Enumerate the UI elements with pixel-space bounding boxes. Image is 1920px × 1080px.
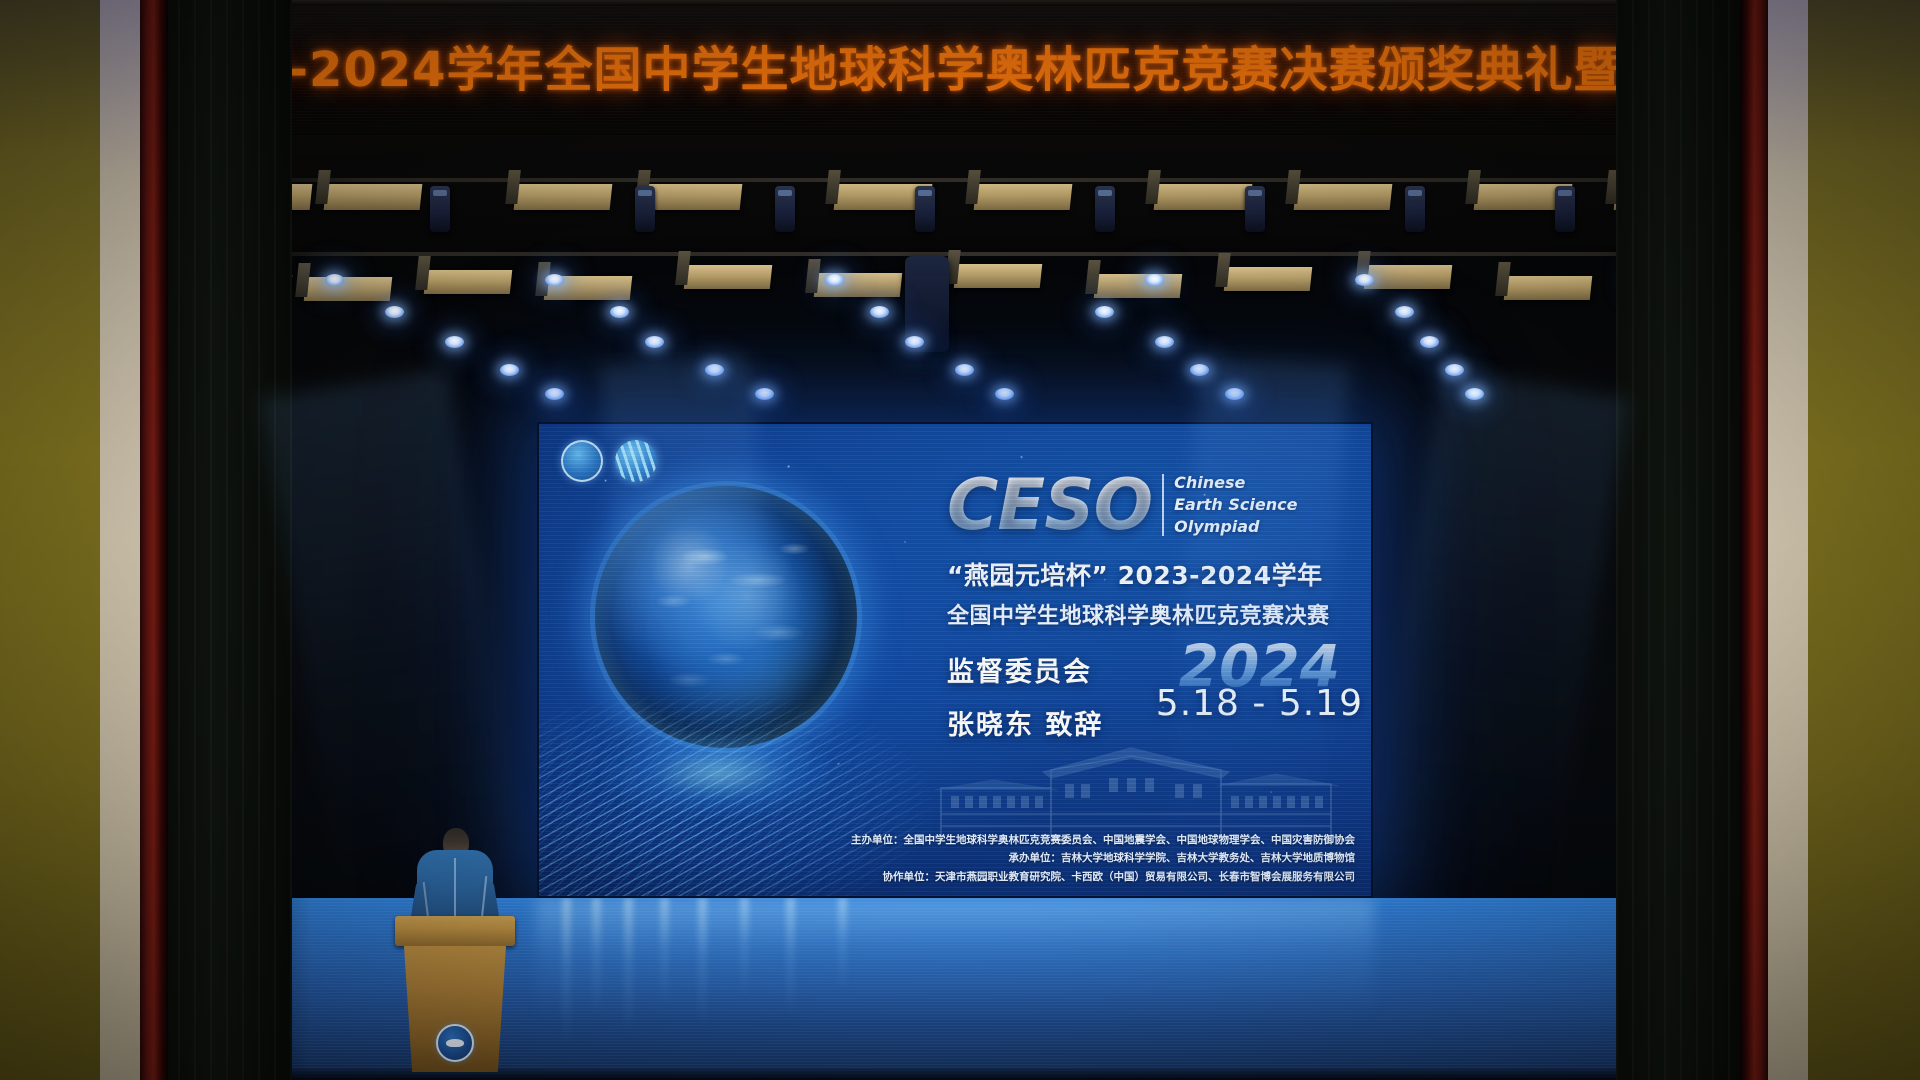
rig-lamp [445, 336, 464, 348]
rig-fixture [1555, 186, 1575, 232]
credits-hosts: 承办单位：吉林大学地球科学学院、吉林大学教务处、吉林大学地质博物馆 [851, 849, 1355, 867]
auditorium-wall-left [0, 0, 100, 1080]
rig-reflector-panel [1364, 265, 1453, 289]
rig-reflector-panel [644, 184, 743, 210]
event-title-line-2: 全国中学生地球科学奥林匹克竞赛决赛 [947, 598, 1359, 630]
podium-group [395, 828, 515, 1080]
rig-lamp [500, 364, 519, 376]
rig-fixture [915, 186, 935, 232]
rig-fixture [775, 186, 795, 232]
rig-fixture [430, 186, 450, 232]
rig-lamp [645, 336, 664, 348]
credits-organizers: 主办单位：全国中学生地球科学奥林匹克竞赛委员会、中国地震学会、中国地球物理学会、… [851, 831, 1355, 849]
rig-lamp [545, 388, 564, 400]
rig-reflector-panel [514, 184, 613, 210]
rig-lamp [905, 336, 924, 348]
rig-lamp [995, 388, 1014, 400]
rig-lamp [545, 274, 564, 286]
speaker-block: 监督委员会 张晓东 致辞 2024 5.18 - 5.19 [947, 650, 1359, 742]
rig-truss-bar [215, 178, 1745, 182]
event-year: 2024 [1156, 640, 1363, 693]
rig-lamp [385, 306, 404, 318]
rig-lamp [1445, 364, 1464, 376]
rig-fixture [1095, 186, 1115, 232]
wave-glow [599, 728, 839, 818]
rig-lamp [610, 306, 629, 318]
screen-logo-group [561, 440, 657, 482]
globe-logo-icon [615, 440, 657, 482]
stage-curtain-left [162, 0, 292, 1080]
red-drape-right [1740, 0, 1770, 1080]
jilin-university-emblem-icon [436, 1024, 474, 1062]
screen-credits: 主办单位：全国中学生地球科学奥林匹克竞赛委员会、中国地震学会、中国地球物理学会、… [851, 831, 1355, 886]
podium-lectern [395, 916, 515, 1072]
ceso-expansion: Chinese Earth Science Olympiad [1174, 472, 1297, 538]
rig-reflector-panel [1094, 274, 1183, 298]
red-drape-left [138, 0, 168, 1080]
rig-truss-bar [215, 252, 1745, 256]
podium-top-surface [395, 916, 515, 946]
ceso-expansion-line-1: Chinese [1174, 472, 1297, 494]
rig-reflector-panel [684, 265, 773, 289]
proscenium-pillar-right [1768, 0, 1810, 1080]
stage-lighting-rig [215, 178, 1745, 398]
rig-reflector-panel [304, 277, 393, 301]
rig-lamp [1355, 274, 1374, 286]
rig-fixture [635, 186, 655, 232]
rig-lamp [325, 274, 344, 286]
rig-reflector-panel [1154, 184, 1253, 210]
rig-lamp [705, 364, 724, 376]
rig-lamp [1155, 336, 1174, 348]
rig-reflector-panel [1224, 267, 1313, 291]
screen-text-block: CESO Chinese Earth Science Olympiad “燕园元… [947, 470, 1359, 756]
led-display-screen[interactable]: CESO Chinese Earth Science Olympiad “燕园元… [537, 422, 1373, 898]
stage-curtain-right [1616, 0, 1746, 1080]
rig-lamp [825, 274, 844, 286]
rig-reflector-panel [1504, 276, 1593, 300]
rig-lamp [755, 388, 774, 400]
led-banner-text: 2023-2024学年全国中学生地球科学奥林匹克竞赛决赛颁奖典礼暨闭幕式 [100, 30, 1820, 100]
auditorium-wall-right [1808, 0, 1920, 1080]
rig-lamp [955, 364, 974, 376]
rig-lamp [1395, 306, 1414, 318]
ceso-divider [1162, 474, 1164, 536]
rig-lamp [1095, 306, 1114, 318]
speaker-jacket-zipper [454, 858, 456, 916]
proscenium-pillar-left [98, 0, 140, 1080]
ceso-seal-logo-icon [561, 440, 603, 482]
event-title-line-1: “燕园元培杯” 2023-2024学年 [947, 556, 1359, 592]
ceso-expansion-line-3: Olympiad [1174, 516, 1297, 538]
ceso-brand-row: CESO Chinese Earth Science Olympiad [947, 470, 1359, 540]
rig-lamp [1225, 388, 1244, 400]
credits-partners: 协作单位：天津市燕园职业教育研究院、卡西欧（中国）贸易有限公司、长春市智博会展服… [851, 868, 1355, 886]
rig-reflector-panel [974, 184, 1073, 210]
rig-lamp [1190, 364, 1209, 376]
ceso-expansion-line-2: Earth Science [1174, 494, 1297, 516]
rig-reflector-panel [1294, 184, 1393, 210]
rig-fixture [1405, 186, 1425, 232]
podium-front-panel [404, 946, 506, 1072]
rig-reflector-panel [424, 270, 513, 294]
rig-fixture [1245, 186, 1265, 232]
rig-lamp [1145, 274, 1164, 286]
banner-top-edge [100, 0, 1820, 6]
rig-lamp [1420, 336, 1439, 348]
rig-reflector-panel [954, 264, 1043, 288]
rig-reflector-panel [324, 184, 423, 210]
stage-scene: 2023-2024学年全国中学生地球科学奥林匹克竞赛决赛颁奖典礼暨闭幕式 [0, 0, 1920, 1080]
rig-lamp [1465, 388, 1484, 400]
ceso-acronym: CESO [947, 470, 1152, 540]
event-date-badge: 2024 5.18 - 5.19 [1156, 640, 1363, 724]
led-banner: 2023-2024学年全国中学生地球科学奥林匹克竞赛决赛颁奖典礼暨闭幕式 [100, 0, 1820, 136]
rig-lamp [870, 306, 889, 318]
